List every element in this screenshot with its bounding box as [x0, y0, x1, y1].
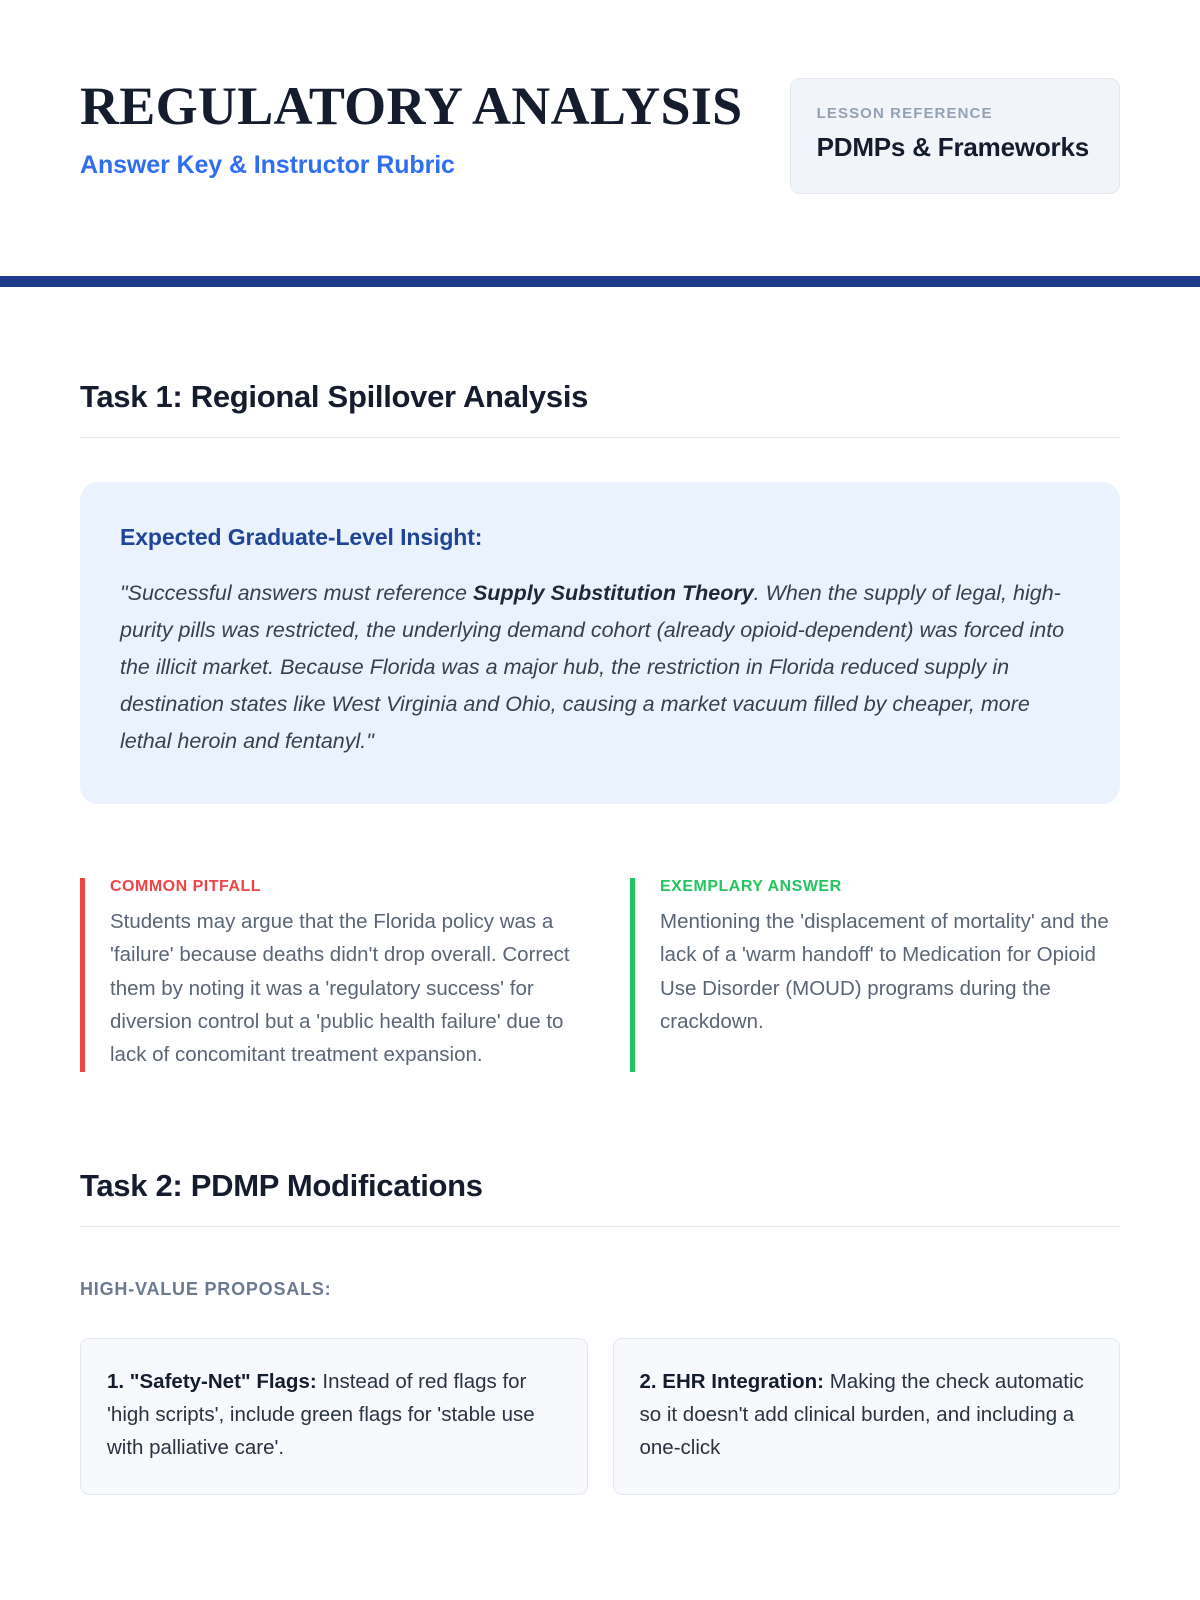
- exemplary-text: Mentioning the 'displacement of mortalit…: [660, 905, 1120, 1039]
- task-1-callout-row: COMMON PITFALL Students may argue that t…: [80, 878, 1120, 1072]
- common-pitfall-callout: COMMON PITFALL Students may argue that t…: [80, 878, 570, 1072]
- pitfall-accent-bar: [80, 878, 85, 1072]
- expected-insight-text: "Successful answers must reference Suppl…: [120, 575, 1080, 760]
- exemplary-label: EXEMPLARY ANSWER: [660, 878, 1120, 896]
- task-1-heading: Task 1: Regional Spillover Analysis: [80, 379, 1120, 415]
- insight-bold-phrase: Supply Substitution Theory: [473, 581, 754, 605]
- insight-text-part-1: "Successful answers must reference: [120, 581, 473, 605]
- lesson-reference-label: LESSON REFERENCE: [817, 105, 1089, 122]
- pitfall-text: Students may argue that the Florida poli…: [110, 905, 570, 1072]
- task-2-divider: [80, 1226, 1120, 1227]
- page-subtitle: Answer Key & Instructor Rubric: [80, 150, 743, 180]
- proposal-text: 1. "Safety-Net" Flags: Instead of red fl…: [107, 1365, 561, 1465]
- document-page: REGULATORY ANALYSIS Answer Key & Instruc…: [0, 0, 1200, 1600]
- document-body: Task 1: Regional Spillover Analysis Expe…: [0, 287, 1200, 1495]
- lesson-reference-value: PDMPs & Frameworks: [817, 132, 1089, 163]
- task-2-section: Task 2: PDMP Modifications HIGH-VALUE PR…: [80, 1072, 1120, 1496]
- exemplary-accent-bar: [630, 878, 635, 1072]
- proposal-card: 2. EHR Integration: Making the check aut…: [613, 1338, 1121, 1496]
- proposal-card: 1. "Safety-Net" Flags: Instead of red fl…: [80, 1338, 588, 1496]
- task-1-section: Task 1: Regional Spillover Analysis Expe…: [80, 287, 1120, 1072]
- expected-insight-callout: Expected Graduate-Level Insight: "Succes…: [80, 482, 1120, 804]
- header-accent-bar: [0, 276, 1200, 287]
- lesson-reference-card: LESSON REFERENCE PDMPs & Frameworks: [790, 78, 1120, 194]
- exemplary-answer-callout: EXEMPLARY ANSWER Mentioning the 'displac…: [630, 878, 1120, 1072]
- proposal-card-row: 1. "Safety-Net" Flags: Instead of red fl…: [80, 1338, 1120, 1496]
- task-2-heading: Task 2: PDMP Modifications: [80, 1168, 1120, 1204]
- expected-insight-heading: Expected Graduate-Level Insight:: [120, 524, 1080, 551]
- document-header: REGULATORY ANALYSIS Answer Key & Instruc…: [0, 0, 1200, 194]
- proposal-text: 2. EHR Integration: Making the check aut…: [640, 1365, 1094, 1465]
- insight-text-part-2: . When the supply of legal, high-purity …: [120, 581, 1064, 753]
- high-value-proposals-label: HIGH-VALUE PROPOSALS:: [80, 1279, 1120, 1300]
- proposal-lead: 1. "Safety-Net" Flags:: [107, 1370, 317, 1393]
- task-1-divider: [80, 437, 1120, 438]
- page-title: REGULATORY ANALYSIS: [80, 78, 743, 134]
- proposal-lead: 2. EHR Integration:: [640, 1370, 825, 1393]
- header-title-block: REGULATORY ANALYSIS Answer Key & Instruc…: [80, 74, 743, 180]
- pitfall-label: COMMON PITFALL: [110, 878, 570, 896]
